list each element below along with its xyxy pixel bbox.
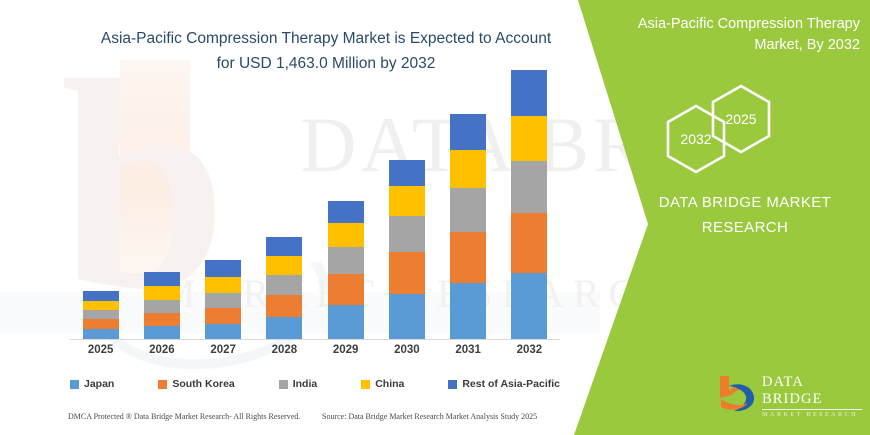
legend-item[interactable]: China (361, 378, 404, 390)
x-axis-label: 2031 (441, 344, 495, 356)
bar-segment (83, 310, 119, 319)
bar-segment (205, 308, 241, 324)
bar-segment (83, 319, 119, 329)
stacked-bar (144, 272, 180, 339)
legend-swatch-icon (70, 380, 79, 389)
bar-segment (144, 313, 180, 326)
x-axis-label: 2032 (502, 344, 556, 356)
bar-segment (205, 260, 241, 277)
bar-segment (328, 305, 364, 339)
bar-segment (144, 272, 180, 286)
hexagon-group: 2032 2025 (665, 90, 805, 170)
bar-segment (83, 329, 119, 339)
hexagon-2025-label: 2025 (710, 84, 772, 154)
bar-segment (450, 188, 486, 232)
bar-segment (205, 277, 241, 293)
x-axis-label: 2028 (257, 344, 311, 356)
legend-label: South Korea (172, 378, 234, 390)
legend-swatch-icon (158, 380, 167, 389)
bar-segment (205, 324, 241, 339)
footer-copyright: DMCA Protected ® Data Bridge Market Rese… (68, 412, 300, 421)
stacked-bar (511, 70, 547, 339)
stacked-bar (83, 291, 119, 339)
chart-legend: JapanSouth KoreaIndiaChinaRest of Asia-P… (70, 378, 560, 390)
bar-column (319, 201, 373, 339)
bar-segment (511, 273, 547, 339)
chart-bars-container (70, 92, 560, 339)
bar-column (135, 272, 189, 339)
bar-segment (328, 201, 364, 223)
bar-segment (511, 213, 547, 273)
bar-segment (389, 252, 425, 294)
stacked-bar (205, 260, 241, 339)
bar-segment (144, 286, 180, 300)
bar-segment (511, 161, 547, 213)
legend-swatch-icon (279, 380, 288, 389)
bar-segment (511, 70, 547, 116)
data-bridge-logo: DATA BRIDGE MARKET RESEARCH (716, 370, 866, 414)
bar-segment (266, 237, 302, 256)
x-axis-label: 2030 (380, 344, 434, 356)
bar-column (441, 114, 495, 339)
legend-label: Japan (84, 378, 114, 390)
bar-column (380, 160, 434, 339)
panel-brand-line1: DATA BRIDGE MARKET (630, 190, 860, 215)
x-axis-label: 2027 (196, 344, 250, 356)
legend-item[interactable]: India (279, 378, 318, 390)
stacked-bar (266, 237, 302, 339)
x-axis-label: 2025 (74, 344, 128, 356)
bar-segment (205, 293, 241, 308)
hexagon-2025: 2025 (710, 84, 772, 154)
logo-divider (762, 409, 862, 410)
bar-column (257, 237, 311, 339)
bar-column (196, 260, 250, 339)
bar-segment (144, 326, 180, 339)
legend-label: China (375, 378, 404, 390)
data-bridge-b-mark-icon (716, 372, 758, 412)
bar-segment (144, 300, 180, 313)
bar-segment (389, 186, 425, 216)
chart-x-axis-labels: 20252026202720282029203020312032 (70, 344, 560, 356)
logo-tagline: MARKET RESEARCH (762, 411, 866, 418)
footer-source: Source: Data Bridge Market Research Mark… (322, 412, 537, 421)
stacked-bar (389, 160, 425, 339)
bar-segment (389, 294, 425, 339)
stacked-bar-chart: 20252026202720282029203020312032 (70, 92, 560, 340)
bar-segment (450, 232, 486, 283)
stacked-bar (328, 201, 364, 339)
panel-brand-line2: RESEARCH (630, 215, 860, 240)
bar-segment (450, 283, 486, 339)
page-title: Asia-Pacific Compression Therapy Market … (96, 26, 556, 76)
bar-segment (328, 247, 364, 274)
bar-segment (266, 275, 302, 295)
bar-segment (266, 256, 302, 275)
x-axis-label: 2029 (319, 344, 373, 356)
bar-segment (266, 295, 302, 317)
bar-segment (389, 160, 425, 186)
logo-name: DATA BRIDGE (762, 374, 866, 408)
legend-swatch-icon (448, 380, 457, 389)
bar-segment (83, 301, 119, 310)
legend-item[interactable]: Rest of Asia-Pacific (448, 378, 560, 390)
bar-segment (328, 274, 364, 305)
x-axis-label: 2026 (135, 344, 189, 356)
bar-segment (450, 114, 486, 150)
bar-segment (266, 317, 302, 339)
panel-title: Asia-Pacific Compression Therapy Market,… (612, 14, 860, 56)
bar-column (502, 70, 556, 339)
bar-segment (389, 216, 425, 252)
infographic-canvas: b DATA BRIDGE MARKET RESEARCH Asia-Pacif… (0, 0, 870, 435)
bar-column (74, 291, 128, 339)
chart-x-axis (70, 339, 560, 340)
stacked-bar (450, 114, 486, 339)
panel-brand: DATA BRIDGE MARKET RESEARCH (630, 190, 860, 240)
data-bridge-logo-text: DATA BRIDGE MARKET RESEARCH (762, 374, 866, 418)
bar-segment (83, 291, 119, 301)
legend-label: Rest of Asia-Pacific (462, 378, 560, 390)
legend-label: India (293, 378, 318, 390)
legend-item[interactable]: Japan (70, 378, 114, 390)
bar-segment (328, 223, 364, 247)
legend-item[interactable]: South Korea (158, 378, 234, 390)
footer: DMCA Protected ® Data Bridge Market Rese… (0, 412, 600, 432)
bar-segment (511, 116, 547, 161)
bar-segment (450, 150, 486, 188)
legend-swatch-icon (361, 380, 370, 389)
